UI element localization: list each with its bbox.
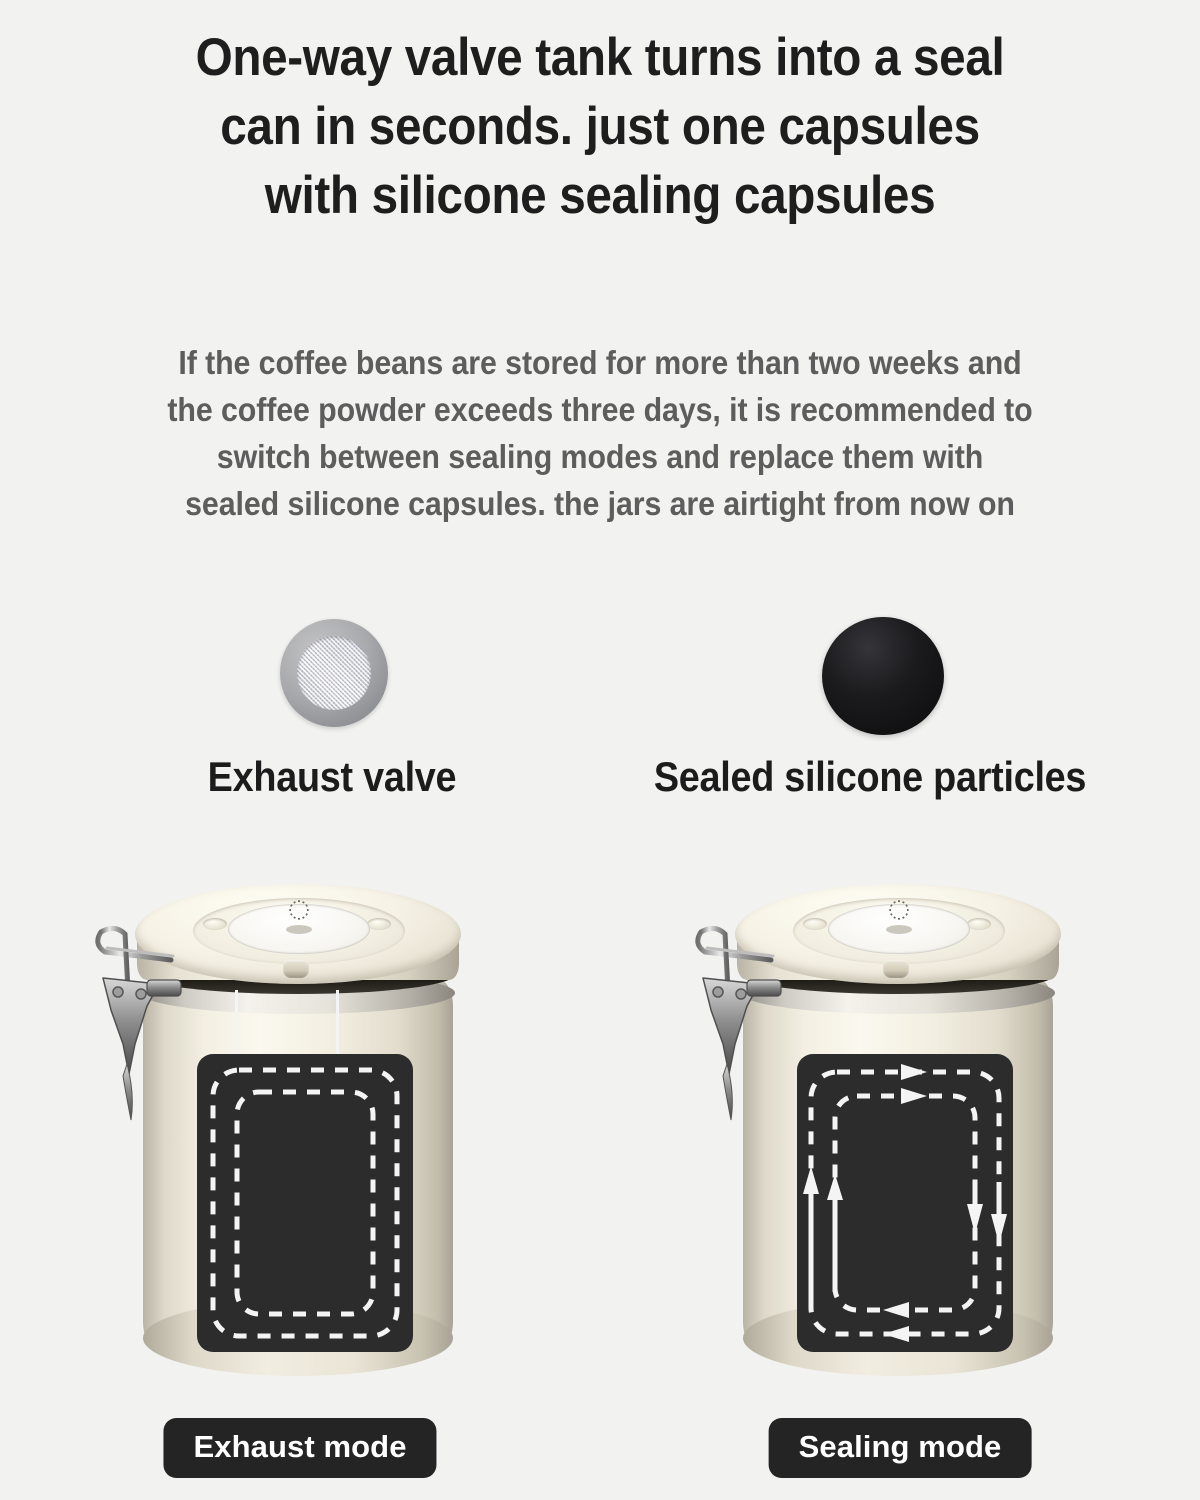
flow-diagram-sealing-svg [797, 1054, 1013, 1352]
description-paragraph: If the coffee beans are stored for more … [48, 340, 1152, 527]
sealed-silicone-particle-icon-wrap [610, 605, 1130, 750]
dial-tick [893, 901, 896, 903]
mode-pill-sealing: Sealing mode [769, 1418, 1032, 1478]
dial-tick [905, 913, 907, 916]
bail-latch-icon [685, 914, 815, 1144]
bail-latch-icon [85, 914, 215, 1144]
jar-column-sealing: Sealing mode [600, 858, 1200, 1500]
arrow-bottom-outer [883, 1326, 909, 1342]
coffee-canister-sealing [685, 868, 1115, 1368]
flow-diagram-exhaust [197, 1054, 413, 1352]
arrow-left-inner [827, 1174, 843, 1200]
dial-tick [290, 913, 292, 916]
dial-tick [305, 913, 307, 916]
flow-diagram-sealing [797, 1054, 1013, 1352]
arrow-right-inner [967, 1204, 983, 1234]
dial-tick [902, 901, 905, 903]
arrow-bottom-inner [883, 1302, 909, 1318]
dial-tick [905, 904, 907, 907]
dial-tick [898, 900, 900, 902]
lid-date-dial [228, 904, 370, 954]
jar-column-exhaust: Exhaust mode [0, 858, 600, 1500]
dial-tick [293, 901, 296, 903]
dial-hub [286, 925, 312, 934]
sealed-silicone-particle-icon [822, 617, 944, 735]
part-label-sealed-silicone-particles: Sealed silicone particles [636, 753, 1104, 801]
page-title: One-way valve tank turns into a seal can… [60, 24, 1140, 231]
dial-tick [907, 909, 909, 911]
exhaust-valve-icon-wrap [72, 605, 592, 750]
jar-comparison: Exhaust mode [0, 858, 1200, 1500]
lid-dimple-right [367, 918, 391, 930]
exhaust-valve-icon [280, 619, 388, 727]
part-label-exhaust-valve: Exhaust valve [98, 753, 566, 801]
mode-pill-exhaust: Exhaust mode [163, 1418, 436, 1478]
dial-tick [293, 916, 296, 918]
dial-tick [302, 916, 305, 918]
dial-tick [890, 913, 892, 916]
dial-tick [302, 901, 305, 903]
arrow-top-inner [901, 1088, 927, 1104]
lid-date-dial [828, 904, 970, 954]
lid-dimple-right [967, 918, 991, 930]
arrow-left-outer [803, 1166, 819, 1194]
dial-tick [305, 904, 307, 907]
arrow-top-outer [901, 1064, 927, 1080]
parts-row: Exhaust valve Sealed silicone particles [0, 605, 1200, 835]
dial-tick [890, 904, 892, 907]
dial-tick [298, 900, 300, 902]
dial-tick [902, 916, 905, 918]
coffee-canister-exhaust [85, 868, 515, 1368]
dial-tick [298, 918, 300, 920]
dial-hub [886, 925, 912, 934]
dial-tick [893, 916, 896, 918]
dial-tick [898, 918, 900, 920]
part-exhaust-valve: Exhaust valve [72, 605, 592, 835]
part-sealed-silicone-particles: Sealed silicone particles [610, 605, 1130, 835]
lid-vent-nub [883, 960, 909, 978]
lid-vent-nub [283, 960, 309, 978]
dial-tick [889, 909, 891, 911]
arrow-right-outer [991, 1214, 1007, 1244]
dial-tick [290, 904, 292, 907]
dial-tick [307, 909, 309, 911]
dial-tick [289, 909, 291, 911]
flow-diagram-exhaust-svg [197, 1054, 413, 1352]
